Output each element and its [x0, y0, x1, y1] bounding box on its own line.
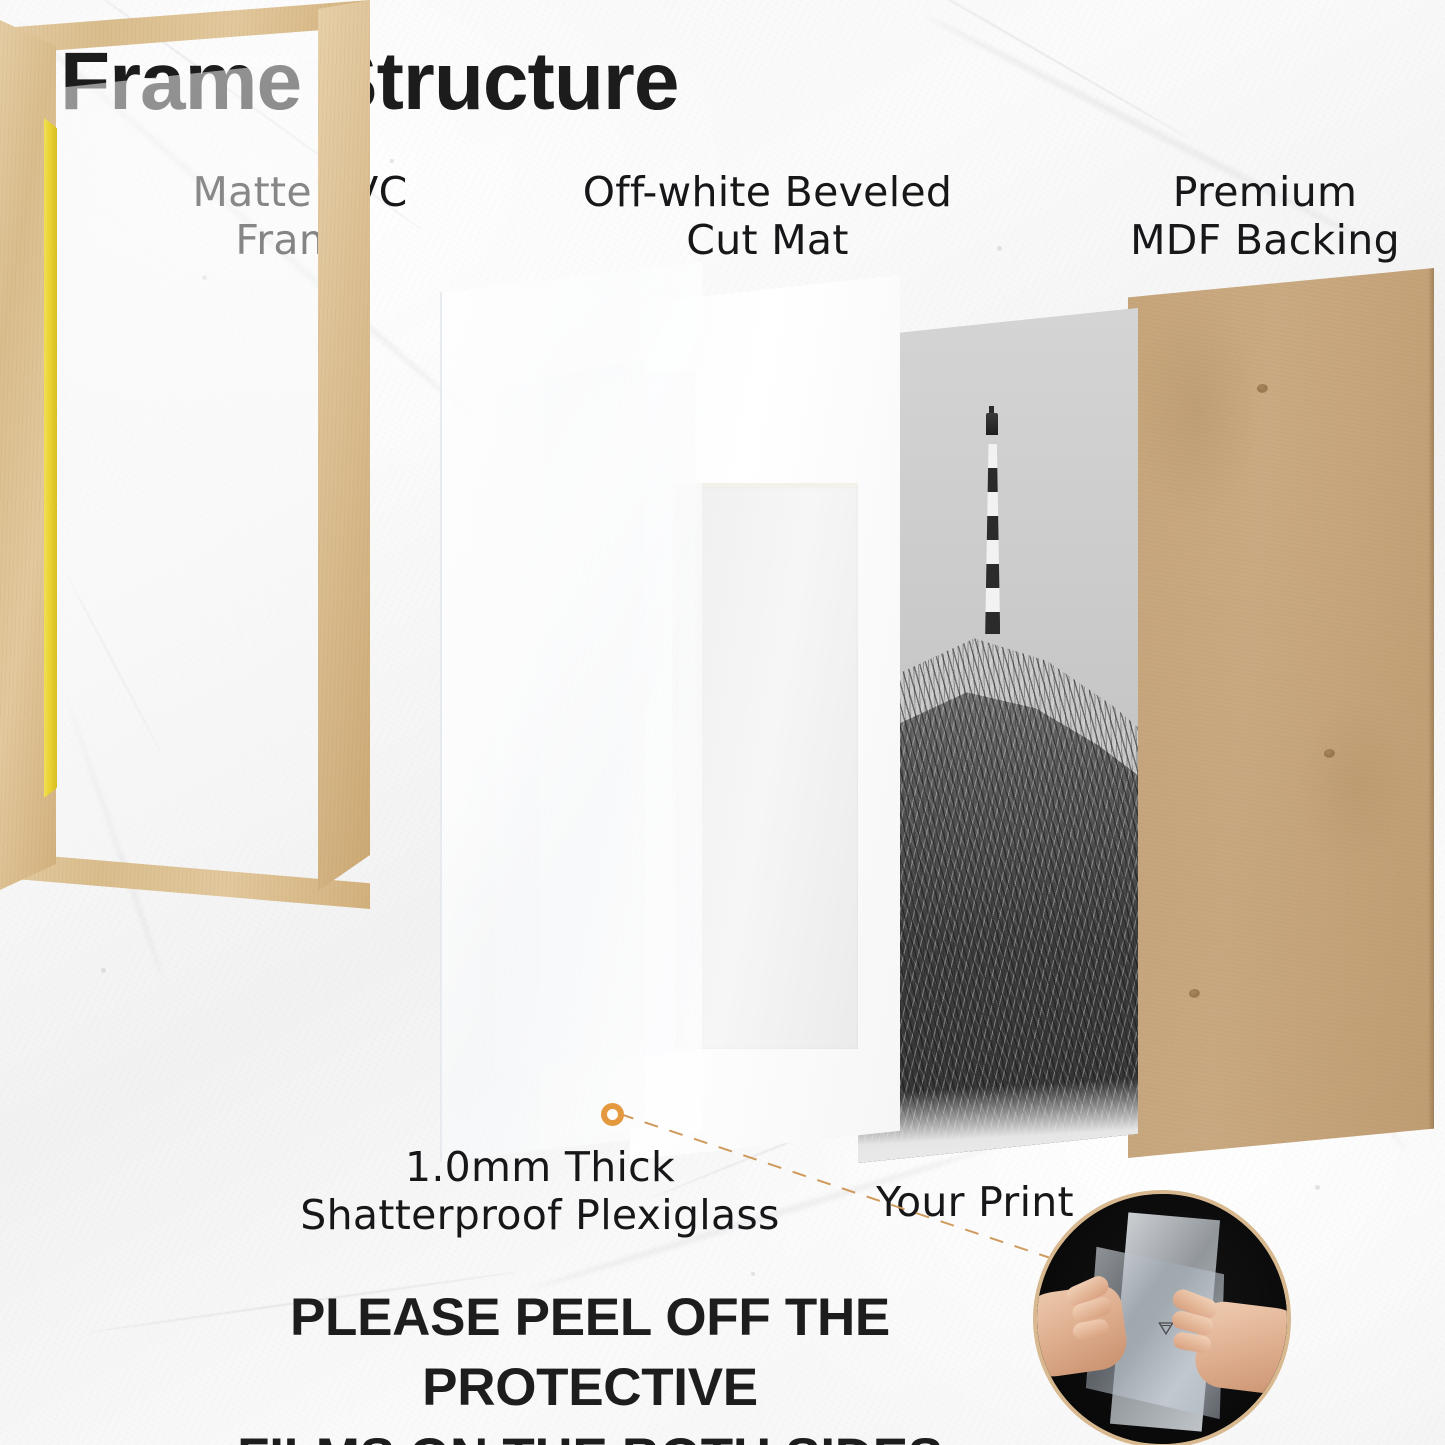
inset-photo-peel-film: [1033, 1190, 1291, 1445]
warning-line2-highlight: BOTH SIDES: [622, 1423, 943, 1445]
connector-dot-marker: [601, 1103, 624, 1126]
callout-backing-line2: MDF Backing: [1090, 216, 1440, 264]
frame-opening: [57, 60, 319, 860]
mdf-texture: [1128, 268, 1434, 1158]
infographic-canvas: Frame Structure Matte PVC Frame Off-whit…: [0, 0, 1445, 1445]
lighthouse-icon: [981, 419, 1003, 634]
mdf-mark: [1189, 989, 1200, 998]
warning-line2: FILMS ON THE BOTH SIDES: [160, 1423, 1020, 1445]
plexiglass-sheen: [442, 262, 702, 1162]
layer-print-photo: [858, 308, 1138, 1163]
callout-plexiglass: 1.0mm Thick Shatterproof Plexiglass: [250, 1143, 830, 1240]
layer-mdf-backing: [1128, 268, 1434, 1158]
callout-backing: Premium MDF Backing: [1090, 168, 1440, 265]
callout-mat: Off-white Beveled Cut Mat: [540, 168, 995, 265]
layer-plexiglass: [440, 262, 702, 1162]
warning-line2-prefix: FILMS ON THE: [237, 1428, 622, 1445]
peel-warning: PLEASE PEEL OFF THE PROTECTIVE FILMS ON …: [160, 1283, 1020, 1445]
callout-mat-line1: Off-white Beveled: [540, 168, 995, 216]
warning-line1: PLEASE PEEL OFF THE PROTECTIVE: [160, 1283, 1020, 1423]
frame-rail-right: [318, 0, 370, 900]
mdf-mark: [1257, 384, 1268, 393]
callout-mat-line2: Cut Mat: [540, 216, 995, 264]
callout-backing-line1: Premium: [1090, 168, 1440, 216]
callout-plexiglass-line2: Shatterproof Plexiglass: [250, 1191, 830, 1239]
mdf-mark: [1324, 749, 1335, 758]
layer-pvc-frame: [0, 0, 370, 905]
frame-rabbet: [44, 118, 57, 798]
callout-plexiglass-line1: 1.0mm Thick: [250, 1143, 830, 1191]
mdf-edge: [1428, 268, 1434, 1158]
